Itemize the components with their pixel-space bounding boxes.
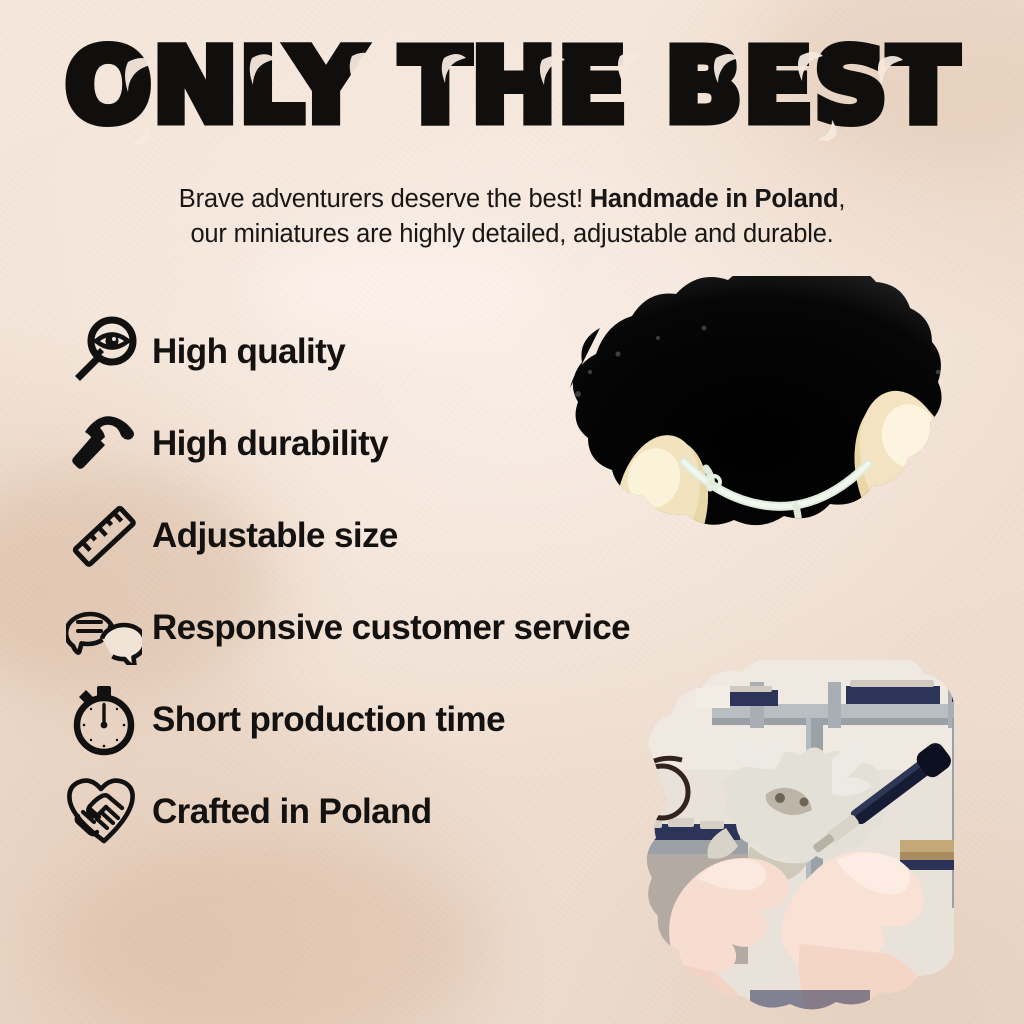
feature-label: Short production time: [152, 700, 505, 740]
page-title-text: ONLY THE BEST: [65, 27, 959, 146]
subtitle-tail: ,: [838, 185, 845, 213]
bottom-photo-torn-mask: [600, 660, 1024, 1024]
hammer-icon: [62, 404, 146, 484]
feature-label: Crafted in Poland: [152, 792, 432, 832]
ruler-icon: [62, 496, 146, 576]
top-photo-torn-mask: [508, 276, 1008, 606]
page-title: ONLY THE BEST: [0, 36, 1024, 138]
subtitle-highlight: Handmade in Poland: [590, 185, 839, 213]
handshake-heart-icon: [62, 772, 146, 852]
workshop-painting-photo: [600, 660, 1024, 1024]
speech-bubbles-icon: [62, 588, 146, 668]
feature-label: Adjustable size: [152, 516, 398, 556]
infographic-canvas: ONLY THE BEST Brave adventurers deserve …: [0, 0, 1024, 1024]
magnifier-eye-icon: [62, 312, 146, 392]
flexible-miniature-photo: [508, 276, 1008, 606]
subtitle-line-2: our miniatures are highly detailed, adju…: [190, 220, 833, 248]
subtitle-lead: Brave adventurers deserve the best!: [179, 185, 590, 213]
stopwatch-icon: [62, 680, 146, 760]
feature-label: High quality: [152, 332, 345, 372]
feature-label: Responsive customer service: [152, 608, 630, 648]
feature-label: High durability: [152, 424, 388, 464]
subtitle: Brave adventurers deserve the best! Hand…: [62, 182, 962, 252]
